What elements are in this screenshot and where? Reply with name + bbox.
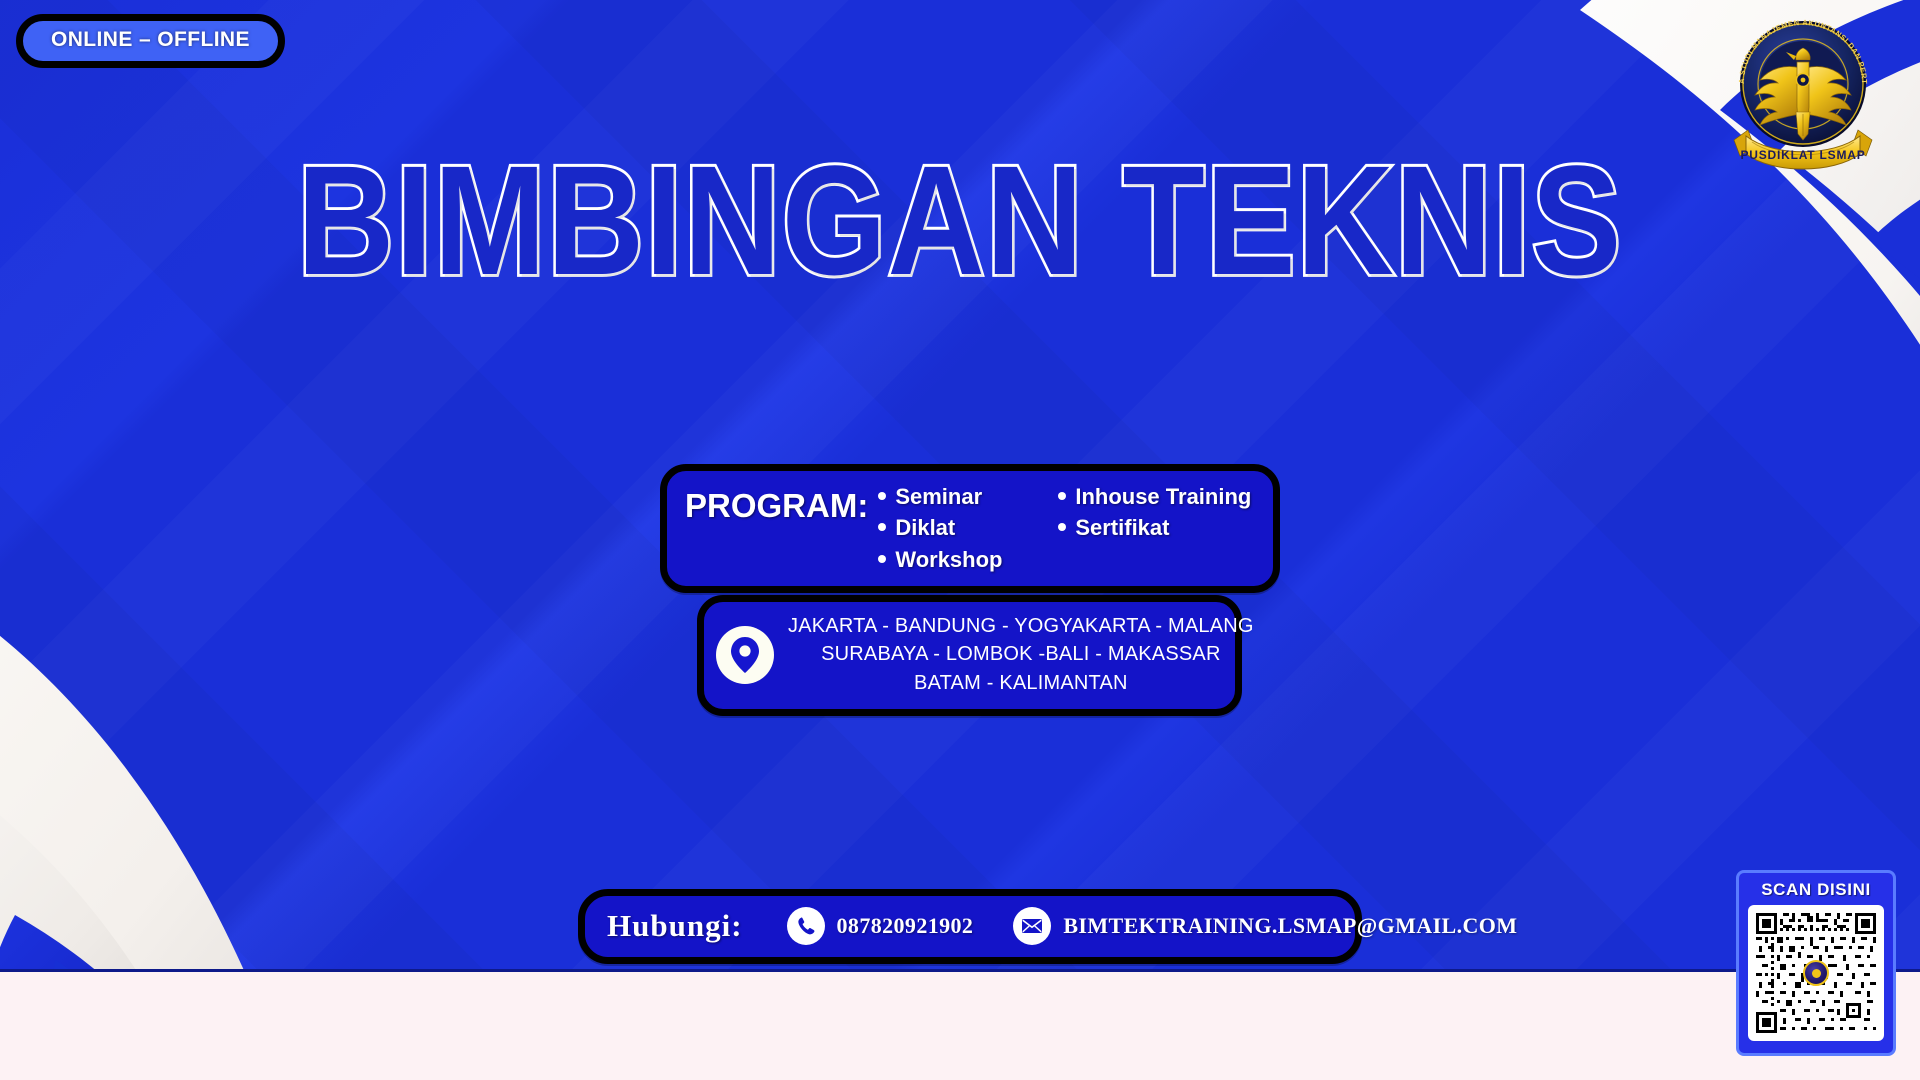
program-item-label: Inhouse Training bbox=[1075, 482, 1251, 511]
bullet-icon bbox=[878, 492, 886, 500]
qr-title: SCAN DISINI bbox=[1761, 880, 1871, 900]
location-card: JAKARTA - BANDUNG - YOGYAKARTA - MALANG … bbox=[697, 595, 1242, 716]
location-line: JAKARTA - BANDUNG - YOGYAKARTA - MALANG bbox=[788, 612, 1254, 640]
location-lines: JAKARTA - BANDUNG - YOGYAKARTA - MALANG … bbox=[788, 612, 1262, 697]
program-label: PROGRAM: bbox=[685, 482, 868, 525]
location-line: BATAM - KALIMANTAN bbox=[788, 669, 1254, 697]
email-address: BIMTEKTRAINING.LSMAP@GMAIL.COM bbox=[1063, 913, 1517, 939]
pusdiklat-lsmap-logo: LEMBAGA STUDI MANAJEMEN AKUNTANSI DAN PE… bbox=[1728, 12, 1878, 177]
program-item: Sertifikat bbox=[1058, 513, 1251, 542]
contact-label: Hubungi: bbox=[607, 908, 743, 944]
program-item: Diklat bbox=[878, 513, 1036, 542]
contact-card: Hubungi: 087820921902 BIMTEKTRAINING.LSM… bbox=[578, 889, 1362, 964]
program-column-2: Inhouse Training Sertifikat bbox=[1058, 482, 1251, 574]
program-item-label: Seminar bbox=[895, 482, 982, 511]
program-item-label: Sertifikat bbox=[1075, 513, 1169, 542]
program-item-label: Workshop bbox=[895, 545, 1002, 574]
bottom-cream-strip bbox=[0, 972, 1920, 1080]
program-column-1: Seminar Diklat Workshop bbox=[878, 482, 1036, 574]
program-columns: Seminar Diklat Workshop Inhouse Training bbox=[878, 482, 1257, 574]
badge-label: ONLINE – OFFLINE bbox=[51, 28, 250, 51]
program-item: Seminar bbox=[878, 482, 1036, 511]
bullet-icon bbox=[878, 523, 886, 531]
poster-title: BIMBINGAN TEKNIS bbox=[0, 143, 1920, 275]
online-offline-badge[interactable]: ONLINE – OFFLINE bbox=[16, 14, 285, 68]
qr-code-image bbox=[1748, 905, 1884, 1041]
svg-text:PUSDIKLAT LSMAP: PUSDIKLAT LSMAP bbox=[1740, 148, 1865, 162]
program-item: Inhouse Training bbox=[1058, 482, 1251, 511]
bullet-icon bbox=[1058, 492, 1066, 500]
poster-canvas: ONLINE – OFFLINE bbox=[0, 0, 1920, 1080]
phone-number: 087820921902 bbox=[837, 913, 974, 939]
program-card: PROGRAM: Seminar Diklat Workshop bbox=[660, 464, 1280, 593]
poster-title-text: BIMBINGAN TEKNIS bbox=[297, 143, 1622, 299]
contact-phone[interactable]: 087820921902 bbox=[787, 907, 974, 945]
location-line: SURABAYA - LOMBOK -BALI - MAKASSAR bbox=[788, 640, 1254, 668]
phone-icon bbox=[787, 907, 825, 945]
email-icon bbox=[1013, 907, 1051, 945]
contact-email[interactable]: BIMTEKTRAINING.LSMAP@GMAIL.COM bbox=[1013, 907, 1517, 945]
bullet-icon bbox=[878, 555, 886, 563]
qr-center-logo bbox=[1803, 960, 1829, 986]
map-pin-icon bbox=[716, 626, 774, 684]
qr-scan-panel[interactable]: SCAN DISINI bbox=[1736, 870, 1896, 1056]
program-item-label: Diklat bbox=[895, 513, 955, 542]
program-item: Workshop bbox=[878, 545, 1036, 574]
bullet-icon bbox=[1058, 523, 1066, 531]
